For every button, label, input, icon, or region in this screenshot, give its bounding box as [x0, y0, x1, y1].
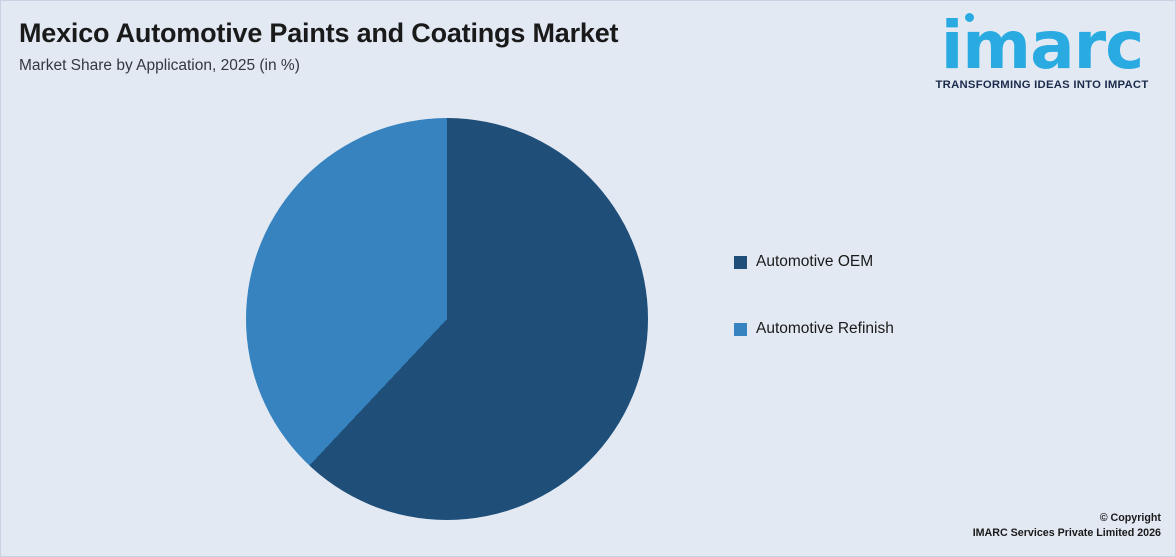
legend-item[interactable]: Automotive OEM — [734, 253, 1034, 271]
logo-dot-icon — [965, 13, 974, 22]
page-subtitle: Market Share by Application, 2025 (in %) — [19, 57, 779, 75]
copyright-line-1: © Copyright — [973, 511, 1161, 527]
copyright-notice: © Copyright IMARC Services Private Limit… — [973, 511, 1161, 542]
chart-page: Mexico Automotive Paints and Coatings Ma… — [0, 0, 1176, 557]
logo-wordmark: imarc — [941, 15, 1144, 77]
legend-swatch-icon — [734, 323, 747, 336]
chart-legend: Automotive OEMAutomotive Refinish — [734, 253, 1034, 387]
legend-swatch-icon — [734, 256, 747, 269]
chart-header: Mexico Automotive Paints and Coatings Ma… — [19, 19, 779, 75]
pie-chart — [246, 118, 648, 520]
legend-label: Automotive OEM — [756, 253, 873, 271]
legend-item[interactable]: Automotive Refinish — [734, 320, 1034, 338]
copyright-line-2: IMARC Services Private Limited 2026 — [973, 526, 1161, 542]
imarc-logo: imarc TRANSFORMING IDEAS INTO IMPACT — [917, 15, 1167, 91]
legend-label: Automotive Refinish — [756, 320, 894, 338]
pie-slices — [246, 118, 648, 520]
page-title: Mexico Automotive Paints and Coatings Ma… — [19, 19, 779, 49]
